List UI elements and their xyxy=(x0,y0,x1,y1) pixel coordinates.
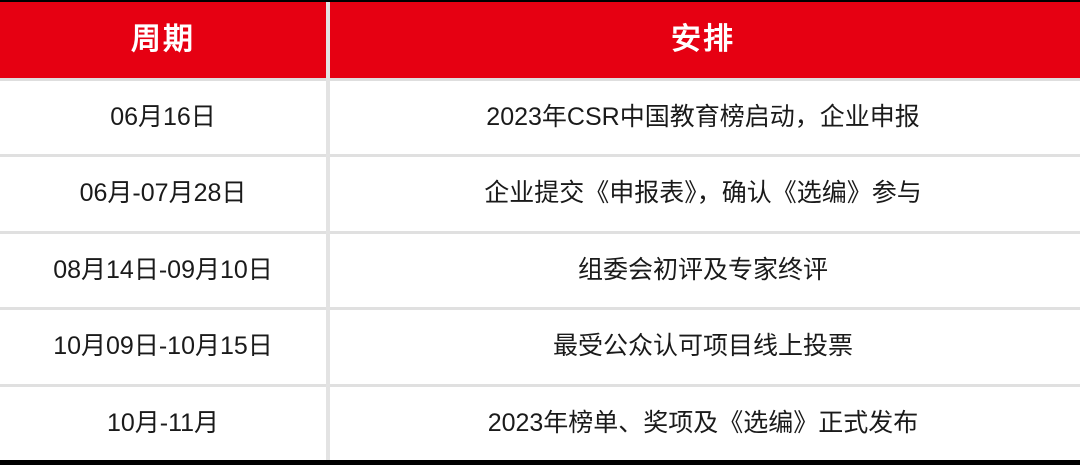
cell-period-text: 10月09日-10月15日 xyxy=(53,333,273,361)
table-header-row: 周期 安排 xyxy=(0,2,1080,78)
table-body: 06月16日 2023年CSR中国教育榜启动，企业申报 06月-07月28日 企… xyxy=(0,78,1080,460)
cell-period: 10月09日-10月15日 xyxy=(0,310,326,383)
cell-arrangement-text: 组委会初评及专家终评 xyxy=(578,257,828,285)
bottom-edge-rule xyxy=(0,460,1080,465)
table-row: 06月-07月28日 企业提交《申报表》，确认《选编》参与 xyxy=(0,154,1080,230)
table-row: 08月14日-09月10日 组委会初评及专家终评 xyxy=(0,231,1080,307)
cell-period: 08月14日-09月10日 xyxy=(0,234,326,307)
cell-period: 06月-07月28日 xyxy=(0,157,326,230)
cell-arrangement: 2023年榜单、奖项及《选编》正式发布 xyxy=(326,387,1080,460)
cell-period: 06月16日 xyxy=(0,81,326,154)
body-column-divider xyxy=(326,78,330,460)
cell-arrangement: 最受公众认可项目线上投票 xyxy=(326,310,1080,383)
cell-arrangement-text: 企业提交《申报表》，确认《选编》参与 xyxy=(484,180,922,208)
cell-arrangement: 企业提交《申报表》，确认《选编》参与 xyxy=(326,157,1080,230)
cell-period-text: 06月16日 xyxy=(110,104,216,132)
schedule-table: 周期 安排 06月16日 2023年CSR中国教育榜启动，企业申报 06月-07… xyxy=(0,0,1080,465)
cell-arrangement: 2023年CSR中国教育榜启动，企业申报 xyxy=(326,81,1080,154)
table-row: 06月16日 2023年CSR中国教育榜启动，企业申报 xyxy=(0,78,1080,154)
cell-period-text: 10月-11月 xyxy=(107,410,219,438)
column-header-period-label: 周期 xyxy=(131,25,195,55)
table-row: 10月09日-10月15日 最受公众认可项目线上投票 xyxy=(0,307,1080,383)
cell-arrangement: 组委会初评及专家终评 xyxy=(326,234,1080,307)
header-column-divider xyxy=(326,2,330,78)
column-header-arrangement: 安排 xyxy=(326,2,1080,78)
column-header-period: 周期 xyxy=(0,2,326,78)
cell-arrangement-text: 最受公众认可项目线上投票 xyxy=(553,333,853,361)
cell-period: 10月-11月 xyxy=(0,387,326,460)
cell-arrangement-text: 2023年榜单、奖项及《选编》正式发布 xyxy=(488,410,919,438)
cell-period-text: 08月14日-09月10日 xyxy=(53,257,273,285)
cell-arrangement-text: 2023年CSR中国教育榜启动，企业申报 xyxy=(486,104,919,132)
column-header-arrangement-label: 安排 xyxy=(671,25,735,55)
table-row: 10月-11月 2023年榜单、奖项及《选编》正式发布 xyxy=(0,384,1080,460)
cell-period-text: 06月-07月28日 xyxy=(80,180,247,208)
